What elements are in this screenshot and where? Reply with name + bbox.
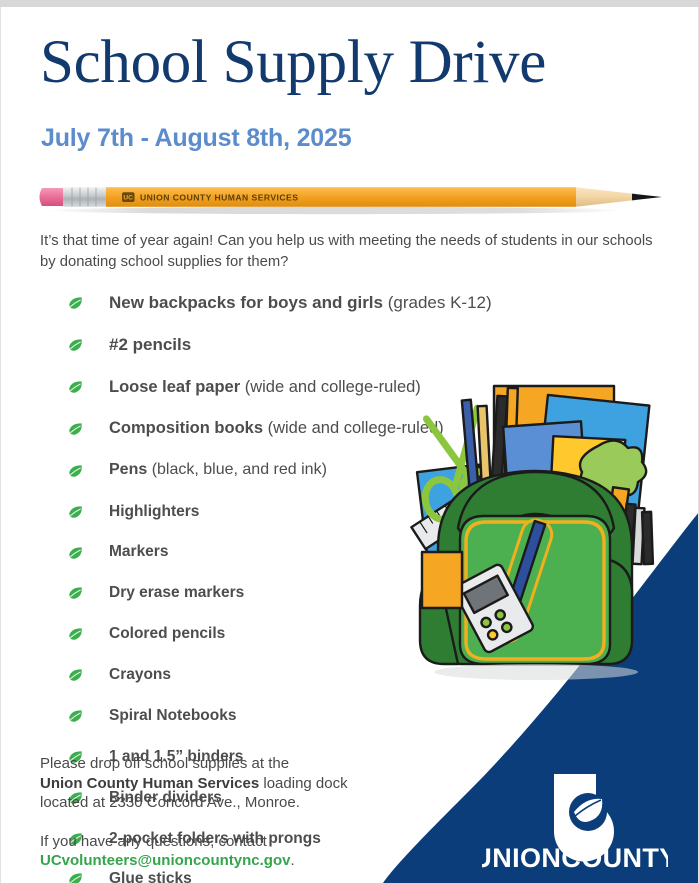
supply-item-note: (grades K-12) — [383, 293, 492, 312]
top-gray-band — [0, 0, 699, 7]
supply-item-label: Highlighters — [109, 503, 199, 520]
supply-item-note: (black, blue, and red ink) — [147, 461, 327, 478]
leaf-bullet-icon — [68, 423, 83, 436]
questions-paragraph: If you have any questions, contact UCvol… — [40, 832, 440, 871]
dropoff-organization: Union County Human Services — [40, 775, 259, 792]
leaf-bullet-icon — [68, 381, 83, 394]
leaf-bullet-icon — [68, 505, 83, 518]
supply-item-label: Markers — [109, 543, 168, 560]
supply-list-item: #2 pencils — [68, 334, 488, 356]
dropoff-line-1: Please drop off school supplies at the — [40, 755, 289, 772]
leaf-bullet-icon — [68, 873, 83, 883]
supply-list-item: New backpacks for boys and girls (grades… — [68, 292, 488, 314]
school-supply-drive-flyer: School Supply Drive July 7th - August 8t… — [0, 0, 699, 883]
supply-item-label: Loose leaf paper — [109, 378, 240, 396]
supply-item-label: Colored pencils — [109, 625, 225, 642]
leaf-bullet-icon — [68, 669, 83, 682]
supply-item-label: Glue sticks — [109, 870, 192, 883]
supply-item-label: Crayons — [109, 666, 171, 683]
backpack-illustration — [402, 372, 668, 684]
supply-item-label: #2 pencils — [109, 335, 191, 354]
date-range: July 7th - August 8th, 2025 — [41, 124, 351, 153]
page-title: School Supply Drive — [40, 29, 546, 97]
contact-email-link[interactable]: UCvolunteers@unioncountync.gov — [40, 852, 290, 869]
supply-list-item: Spiral Notebooks — [68, 706, 488, 726]
supply-item-label: New backpacks for boys and girls — [109, 293, 383, 312]
supply-item-label: Pens — [109, 461, 147, 478]
leaf-bullet-icon — [68, 709, 83, 722]
pencil-banner-graphic: UC UNION COUNTY HUMAN SERVICES — [36, 176, 662, 218]
questions-line: If you have any questions, contact — [40, 833, 267, 850]
footer-text-block: Please drop off school supplies at the U… — [40, 754, 440, 871]
leaf-bullet-icon — [68, 546, 83, 559]
supply-item-label: Spiral Notebooks — [109, 707, 236, 724]
leaf-bullet-icon — [68, 296, 83, 309]
supply-item-label: Composition books — [109, 419, 263, 437]
supply-item-label: Dry erase markers — [109, 584, 244, 601]
intro-paragraph: It’s that time of year again! Can you he… — [40, 231, 665, 273]
supply-list-item: Glue sticks — [68, 869, 488, 883]
leaf-bullet-icon — [68, 464, 83, 477]
page-border-left — [0, 7, 1, 883]
leaf-bullet-icon — [68, 587, 83, 600]
dropoff-address: located at 2330 Concord Ave., Monroe. — [40, 794, 300, 811]
email-period: . — [290, 852, 294, 869]
pencil-banner-text: UNION COUNTY HUMAN SERVICES — [140, 192, 298, 202]
supply-item-note: (wide and college-ruled) — [240, 378, 421, 396]
leaf-bullet-icon — [68, 339, 83, 352]
logo-wordmark: UNIONCOUNTY — [482, 843, 668, 873]
union-county-logo: UNIONCOUNTY — [482, 772, 668, 874]
dropoff-line-2-tail: loading dock — [259, 775, 347, 792]
leaf-bullet-icon — [68, 628, 83, 641]
dropoff-paragraph: Please drop off school supplies at the U… — [40, 754, 440, 813]
pencil-logo-uc-text: UC — [123, 195, 133, 202]
